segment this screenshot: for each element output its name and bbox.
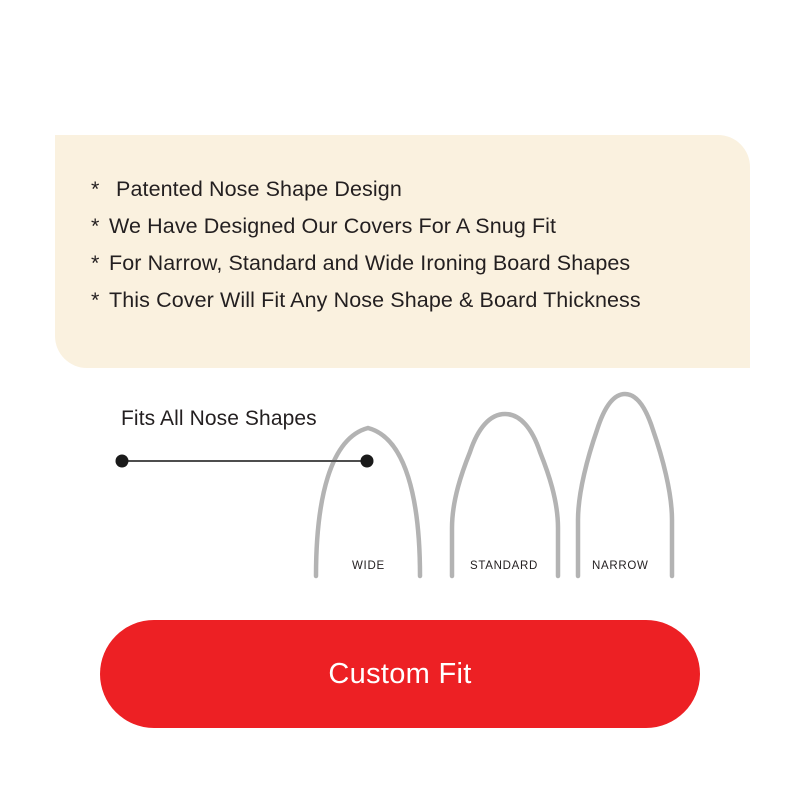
product-feature-graphic: * Patented Nose Shape Design * We Have D… bbox=[0, 0, 800, 800]
bullet-marker-icon: * bbox=[91, 216, 100, 238]
standard-nose-shape bbox=[452, 414, 558, 576]
feature-bullet-list: * Patented Nose Shape Design * We Have D… bbox=[91, 177, 736, 325]
feature-text: We Have Designed Our Covers For A Snug F… bbox=[109, 214, 556, 239]
bullet-marker-icon: * bbox=[91, 290, 100, 312]
shape-label-wide: WIDE bbox=[352, 560, 385, 572]
feature-panel: * Patented Nose Shape Design * We Have D… bbox=[55, 135, 750, 368]
narrow-nose-shape bbox=[578, 394, 672, 576]
list-item: * We Have Designed Our Covers For A Snug… bbox=[91, 214, 736, 251]
list-item: * Patented Nose Shape Design bbox=[91, 177, 736, 214]
shape-label-standard: STANDARD bbox=[470, 560, 538, 572]
list-item: * This Cover Will Fit Any Nose Shape & B… bbox=[91, 288, 736, 325]
list-item: * For Narrow, Standard and Wide Ironing … bbox=[91, 251, 736, 288]
shape-label-narrow: NARROW bbox=[592, 560, 649, 572]
bullet-marker-icon: * bbox=[91, 179, 100, 201]
callout-label: Fits All Nose Shapes bbox=[121, 407, 317, 431]
wide-nose-shape bbox=[316, 428, 420, 576]
nose-shape-diagram: Fits All Nose Shapes bbox=[0, 380, 800, 590]
feature-text: Patented Nose Shape Design bbox=[116, 177, 402, 202]
feature-text: This Cover Will Fit Any Nose Shape & Boa… bbox=[109, 288, 641, 313]
custom-fit-button[interactable]: Custom Fit bbox=[100, 620, 700, 728]
feature-text: For Narrow, Standard and Wide Ironing Bo… bbox=[109, 251, 630, 276]
bullet-marker-icon: * bbox=[91, 253, 100, 275]
